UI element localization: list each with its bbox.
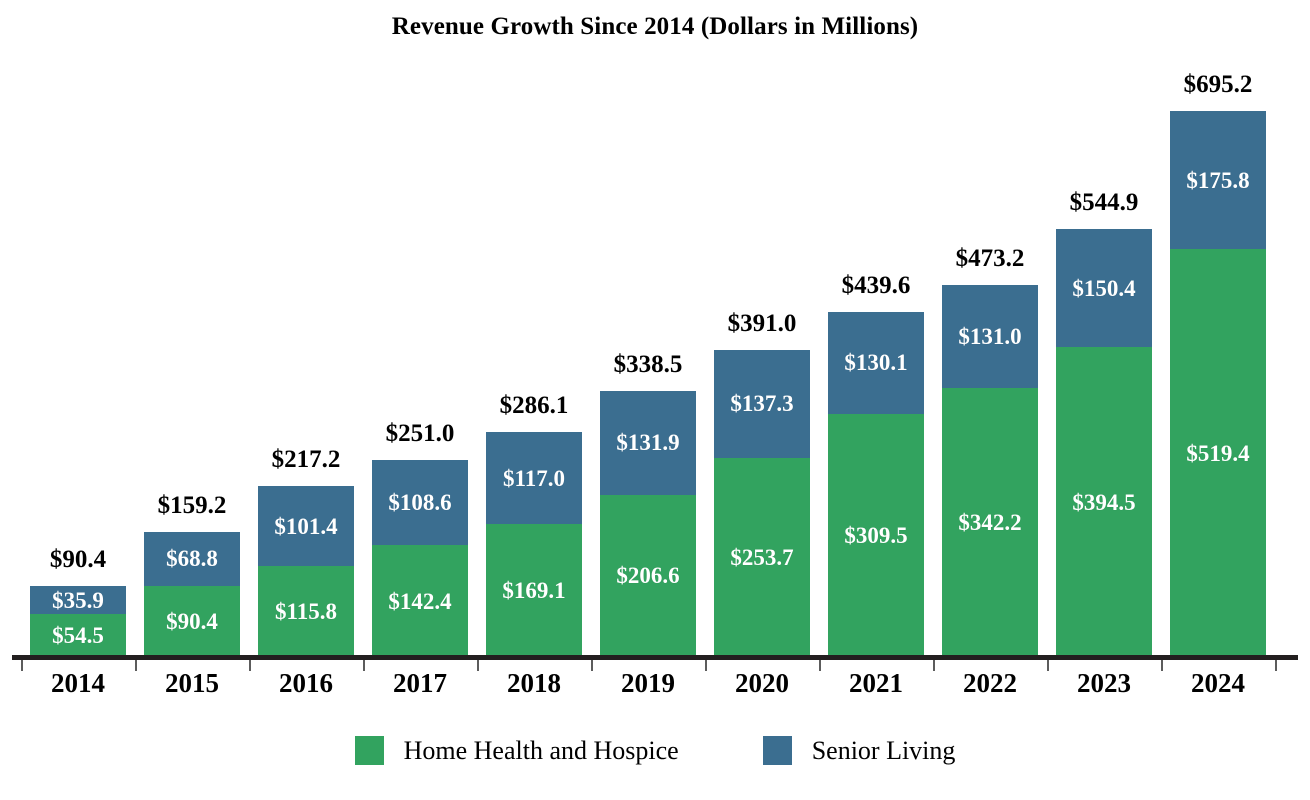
bar-segment-label: $115.8: [275, 600, 337, 623]
bar-total-label: $90.4: [50, 547, 106, 572]
chart-legend: Home Health and HospiceSenior Living: [0, 736, 1310, 765]
bar-stack: $117.0$169.1: [486, 432, 582, 657]
bar-total-label: $286.1: [500, 393, 569, 418]
x-axis-tick-mark: [819, 660, 821, 671]
bar-segment-senior-living[interactable]: $130.1: [828, 312, 924, 414]
bar-total-label: $217.2: [272, 447, 341, 472]
x-axis-tick-mark: [1047, 660, 1049, 671]
bar-segment-label: $101.4: [274, 515, 337, 538]
bar-segment-home-health-and-hospice[interactable]: $342.2: [942, 388, 1038, 657]
x-axis-tick-mark: [933, 660, 935, 671]
bar-segment-home-health-and-hospice[interactable]: $253.7: [714, 458, 810, 657]
bar-segment-home-health-and-hospice[interactable]: $54.5: [30, 614, 126, 657]
bar-total-label: $544.9: [1070, 190, 1139, 215]
bar-segment-home-health-and-hospice[interactable]: $309.5: [828, 414, 924, 657]
x-axis-tick-label: 2024: [1170, 670, 1266, 697]
bar-total-label: $473.2: [956, 246, 1025, 271]
bar-segment-label: $394.5: [1072, 491, 1135, 514]
bar-group: $150.4$394.5$544.9: [1056, 0, 1152, 657]
bar-stack: $68.8$90.4: [144, 532, 240, 657]
legend-item[interactable]: Senior Living: [763, 736, 956, 765]
x-axis-tick-label: 2023: [1056, 670, 1152, 697]
bar-group: $175.8$519.4$695.2: [1170, 0, 1266, 657]
x-axis-tick-label: 2015: [144, 670, 240, 697]
x-axis-tick-mark: [705, 660, 707, 671]
x-axis-tick-mark: [1275, 660, 1277, 671]
x-axis-tick-label: 2021: [828, 670, 924, 697]
bar-group: $108.6$142.4$251.0: [372, 0, 468, 657]
plot-area: $35.9$54.5$90.4$68.8$90.4$159.2$101.4$11…: [0, 0, 1310, 660]
bar-segment-senior-living[interactable]: $131.0: [942, 285, 1038, 388]
bar-stack: $131.9$206.6: [600, 391, 696, 657]
bar-segment-label: $108.6: [388, 491, 451, 514]
bar-segment-label: $342.2: [958, 511, 1021, 534]
x-axis-tick-label: 2020: [714, 670, 810, 697]
bar-segment-senior-living[interactable]: $108.6: [372, 460, 468, 545]
bar-segment-senior-living[interactable]: $175.8: [1170, 111, 1266, 249]
bar-segment-senior-living[interactable]: $131.9: [600, 391, 696, 495]
bar-stack: $150.4$394.5: [1056, 229, 1152, 657]
bar-stack: $101.4$115.8: [258, 486, 354, 657]
bar-segment-label: $117.0: [503, 467, 565, 490]
stacked-bar-chart: Revenue Growth Since 2014 (Dollars in Mi…: [0, 0, 1310, 800]
bar-group: $130.1$309.5$439.6: [828, 0, 924, 657]
bar-segment-senior-living[interactable]: $137.3: [714, 350, 810, 458]
bar-segment-home-health-and-hospice[interactable]: $90.4: [144, 586, 240, 657]
x-axis-tick-mark: [363, 660, 365, 671]
bar-stack: $108.6$142.4: [372, 460, 468, 657]
bar-segment-home-health-and-hospice[interactable]: $394.5: [1056, 347, 1152, 657]
bar-segment-home-health-and-hospice[interactable]: $142.4: [372, 545, 468, 657]
bar-total-label: $439.6: [842, 273, 911, 298]
x-axis-tick-label: 2018: [486, 670, 582, 697]
bar-segment-label: $169.1: [502, 579, 565, 602]
bar-stack: $130.1$309.5: [828, 312, 924, 657]
bar-segment-home-health-and-hospice[interactable]: $519.4: [1170, 249, 1266, 657]
bar-stack: $175.8$519.4: [1170, 111, 1266, 657]
x-axis-tick-label: 2022: [942, 670, 1038, 697]
bar-segment-label: $90.4: [166, 610, 218, 633]
bar-group: $101.4$115.8$217.2: [258, 0, 354, 657]
bar-segment-label: $206.6: [616, 564, 679, 587]
x-axis-tick-label: 2014: [30, 670, 126, 697]
x-axis-tick-mark: [21, 660, 23, 671]
x-axis-tick-label: 2019: [600, 670, 696, 697]
bar-segment-label: $519.4: [1186, 442, 1249, 465]
bar-group: $131.0$342.2$473.2: [942, 0, 1038, 657]
x-axis-line: [12, 655, 1298, 660]
x-axis-tick-mark: [591, 660, 593, 671]
legend-swatch-icon: [763, 736, 792, 765]
bar-segment-label: $35.9: [52, 589, 104, 612]
bar-segment-senior-living[interactable]: $35.9: [30, 586, 126, 614]
bar-total-label: $159.2: [158, 493, 227, 518]
bar-segment-home-health-and-hospice[interactable]: $206.6: [600, 495, 696, 657]
bar-total-label: $695.2: [1184, 72, 1253, 97]
bar-segment-senior-living[interactable]: $101.4: [258, 486, 354, 566]
bar-stack: $35.9$54.5: [30, 586, 126, 657]
bar-segment-home-health-and-hospice[interactable]: $169.1: [486, 524, 582, 657]
x-axis-tick-label: 2016: [258, 670, 354, 697]
bar-segment-label: $54.5: [52, 624, 104, 647]
bar-segment-label: $253.7: [730, 546, 793, 569]
bar-total-label: $391.0: [728, 311, 797, 336]
legend-item[interactable]: Home Health and Hospice: [355, 736, 679, 765]
bar-segment-senior-living[interactable]: $150.4: [1056, 229, 1152, 347]
bar-segment-label: $142.4: [388, 590, 451, 613]
bar-segment-label: $131.0: [958, 325, 1021, 348]
legend-label: Home Health and Hospice: [404, 738, 679, 764]
bar-segment-label: $137.3: [730, 392, 793, 415]
bar-total-label: $251.0: [386, 421, 455, 446]
bar-segment-label: $150.4: [1072, 277, 1135, 300]
bar-group: $68.8$90.4$159.2: [144, 0, 240, 657]
x-axis-tick-mark: [477, 660, 479, 671]
bar-segment-label: $131.9: [616, 431, 679, 454]
x-axis-tick-mark: [135, 660, 137, 671]
bar-group: $131.9$206.6$338.5: [600, 0, 696, 657]
legend-label: Senior Living: [812, 738, 956, 764]
bar-group: $137.3$253.7$391.0: [714, 0, 810, 657]
bar-segment-label: $130.1: [844, 351, 907, 374]
bar-group: $117.0$169.1$286.1: [486, 0, 582, 657]
x-axis-tick-mark: [249, 660, 251, 671]
bar-stack: $137.3$253.7: [714, 350, 810, 657]
x-axis-tick-mark: [1161, 660, 1163, 671]
bar-segment-home-health-and-hospice[interactable]: $115.8: [258, 566, 354, 657]
bar-segment-label: $175.8: [1186, 169, 1249, 192]
legend-swatch-icon: [355, 736, 384, 765]
bar-group: $35.9$54.5$90.4: [30, 0, 126, 657]
bar-segment-senior-living[interactable]: $68.8: [144, 532, 240, 586]
x-axis-tick-label: 2017: [372, 670, 468, 697]
bar-segment-label: $68.8: [166, 547, 218, 570]
bar-segment-label: $309.5: [844, 524, 907, 547]
bar-segment-senior-living[interactable]: $117.0: [486, 432, 582, 524]
bar-stack: $131.0$342.2: [942, 285, 1038, 657]
bar-total-label: $338.5: [614, 352, 683, 377]
